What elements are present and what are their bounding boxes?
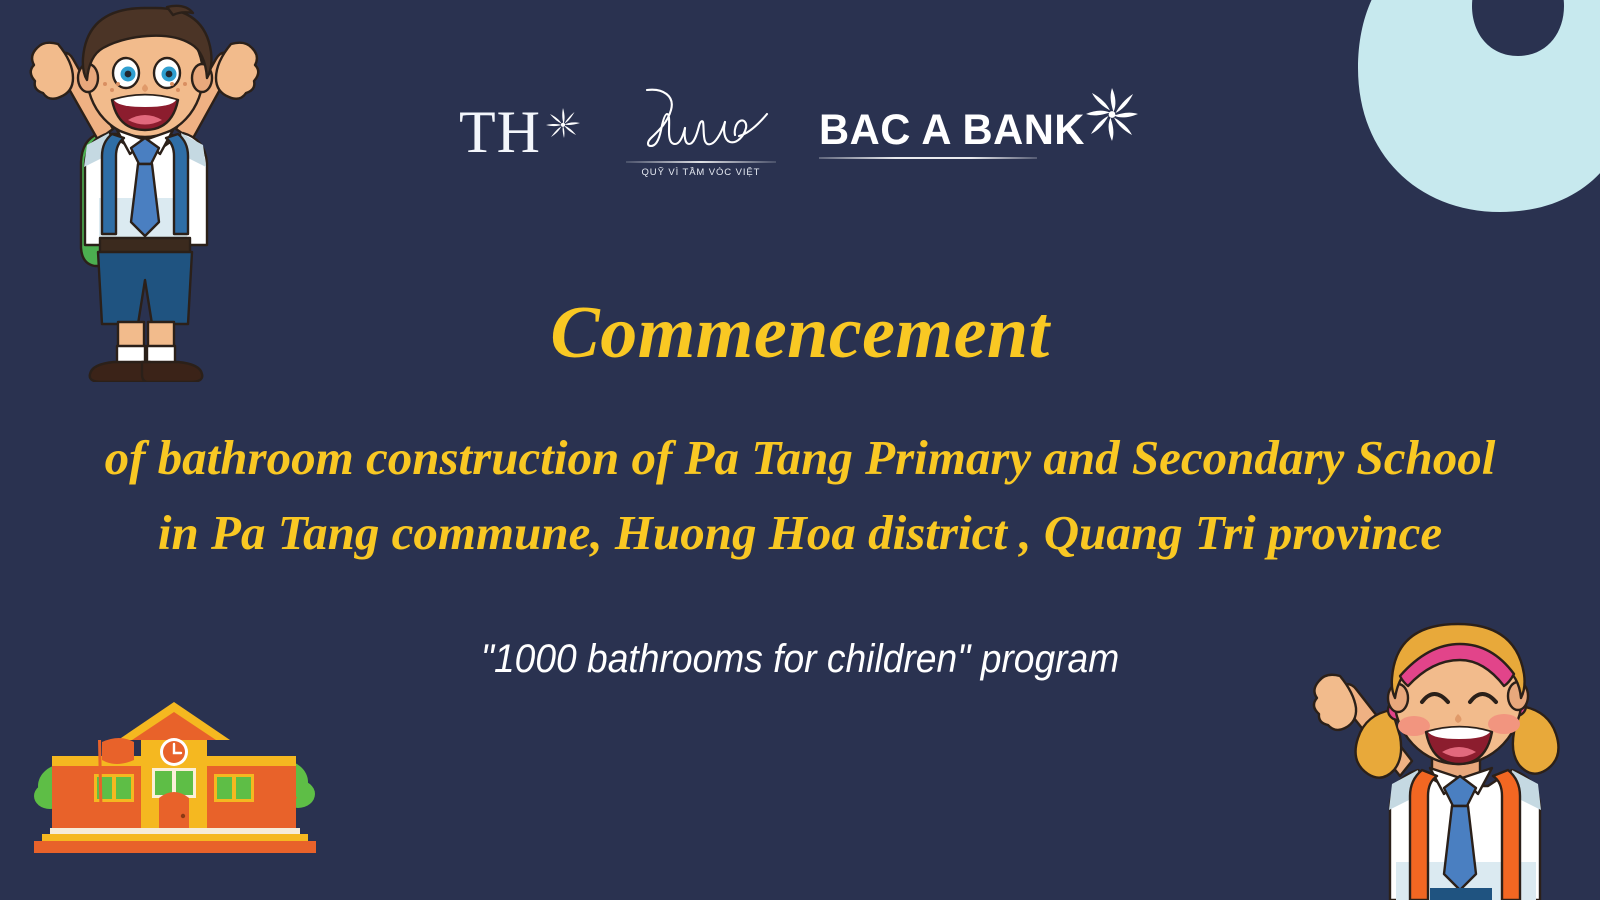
program-name: "1000 bathrooms for children" program [56,632,1544,686]
subtitle-block: of bathroom construction of Pa Tang Prim… [0,420,1600,570]
logo-th[interactable]: TH [459,104,583,161]
poster-canvas: TH [0,0,1600,900]
school-building-illustration [28,678,320,858]
logo-th-text: TH [459,104,541,161]
true-script-wordmark [617,86,785,158]
logo-bar: TH [0,86,1600,178]
page-title: Commencement [0,296,1600,370]
logo-true-rule [626,161,776,163]
logo-bank-text: BAC A BANK [819,109,1085,152]
subtitle-line-2: in Pa Tang commune, Huong Hoa district ,… [0,495,1600,570]
logo-bank-rule [819,157,1037,159]
logo-true-tagline: QUỸ VÌ TẦM VÓC VIỆT [642,167,761,177]
logo-bac-a-bank[interactable]: BAC A BANK [819,109,1141,159]
cheering-schoolgirl-illustration [1280,580,1600,900]
subtitle-line-1: of bathroom construction of Pa Tang Prim… [0,420,1600,495]
flower-icon [1083,85,1141,143]
logo-true[interactable]: QUỸ VÌ TẦM VÓC VIỆT [617,86,785,178]
flower-icon [543,106,583,146]
